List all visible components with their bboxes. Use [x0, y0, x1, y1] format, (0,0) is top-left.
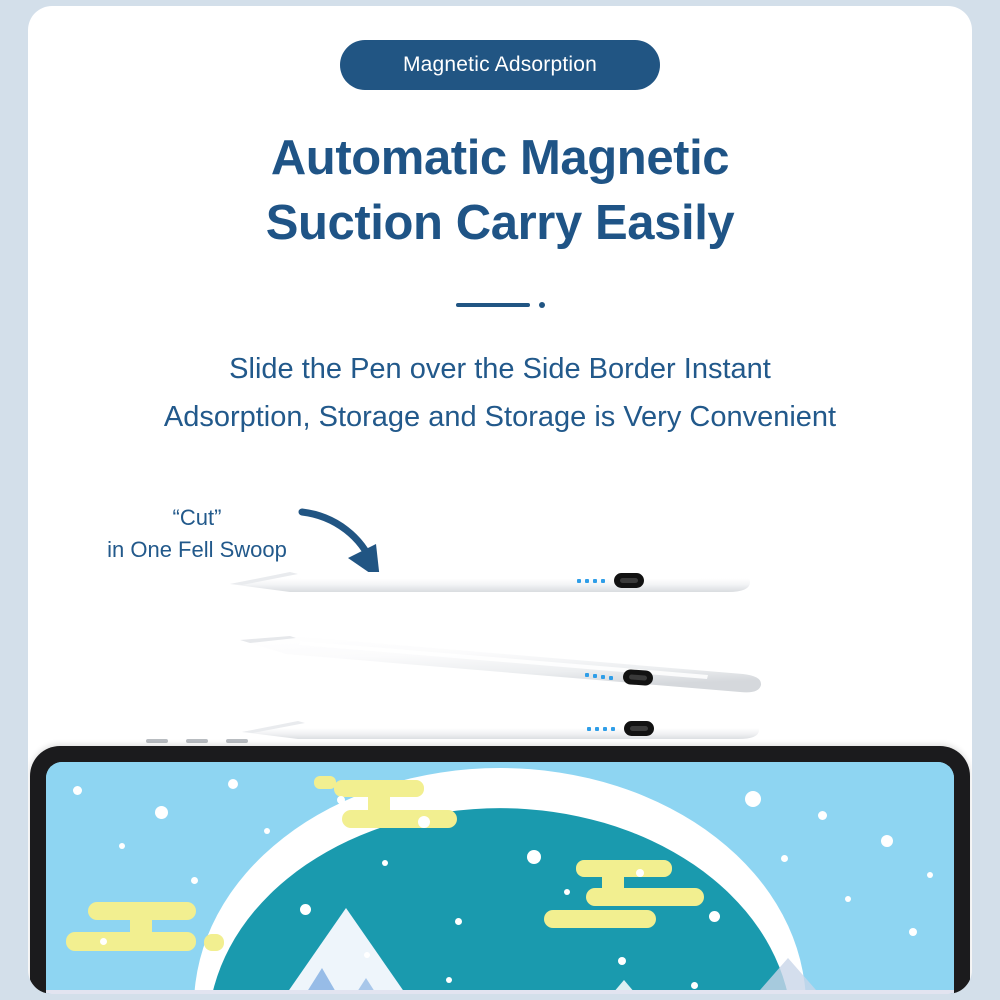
led-indicator	[601, 675, 605, 679]
stylus-pen-1	[228, 558, 758, 606]
port-mark	[146, 739, 168, 743]
led-indicator	[585, 673, 589, 677]
led-indicator	[609, 676, 613, 680]
stylus-pen-2	[238, 634, 768, 696]
subtitle-line-2: Adsorption, Storage and Storage is Very …	[28, 394, 972, 442]
led-indicator	[587, 727, 591, 731]
led-indicator	[601, 579, 605, 583]
snow-dot	[673, 823, 679, 829]
badge-label: Magnetic Adsorption	[403, 53, 597, 77]
port-mark	[186, 739, 208, 743]
tablet-screen[interactable]	[46, 762, 954, 994]
tablet-device	[30, 746, 970, 994]
led-indicator	[593, 674, 597, 678]
snow-dot	[491, 784, 500, 793]
headline-line-2: Suction Carry Easily	[28, 191, 972, 256]
snow-dot	[909, 928, 917, 936]
promo-card: Magnetic Adsorption Automatic Magnetic S…	[28, 6, 972, 994]
badge-magnetic-adsorption: Magnetic Adsorption	[340, 40, 660, 90]
snow-dot	[300, 904, 311, 915]
snow-dot	[191, 877, 198, 884]
subtitle-line-1: Slide the Pen over the Side Border Insta…	[28, 346, 972, 394]
snow-dot	[818, 811, 827, 820]
usb-c-port	[623, 669, 654, 686]
headline-line-1: Automatic Magnetic	[28, 126, 972, 191]
divider	[28, 302, 972, 308]
led-indicator	[593, 579, 597, 583]
snow-dot	[418, 816, 430, 828]
page-title: Automatic Magnetic Suction Carry Easily	[28, 126, 972, 256]
led-indicator	[585, 579, 589, 583]
led-indicator	[595, 727, 599, 731]
divider-bar	[456, 303, 530, 307]
snow-dot	[600, 801, 610, 811]
snow-dot	[709, 911, 720, 922]
snow-dot	[527, 850, 541, 864]
port-mark	[226, 739, 248, 743]
led-indicator	[577, 579, 581, 583]
snow-dot	[927, 872, 933, 878]
snow-dot	[455, 918, 462, 925]
snow-dot	[119, 843, 125, 849]
snow-dot	[264, 828, 270, 834]
snow-dot	[155, 806, 168, 819]
snow-dot	[691, 982, 698, 989]
tablet-edge-ports	[146, 739, 248, 743]
usb-c-port	[614, 573, 644, 588]
snow-dot	[382, 860, 388, 866]
led-indicator	[611, 727, 615, 731]
usb-c-port	[624, 721, 654, 736]
subtitle: Slide the Pen over the Side Border Insta…	[28, 346, 972, 442]
snow-dot	[337, 796, 345, 804]
snow-dot	[564, 889, 570, 895]
led-indicator	[603, 727, 607, 731]
snow-dot	[446, 977, 452, 983]
divider-dot	[539, 302, 545, 308]
snow-dot	[228, 779, 238, 789]
wallpaper-illustration	[46, 762, 954, 994]
